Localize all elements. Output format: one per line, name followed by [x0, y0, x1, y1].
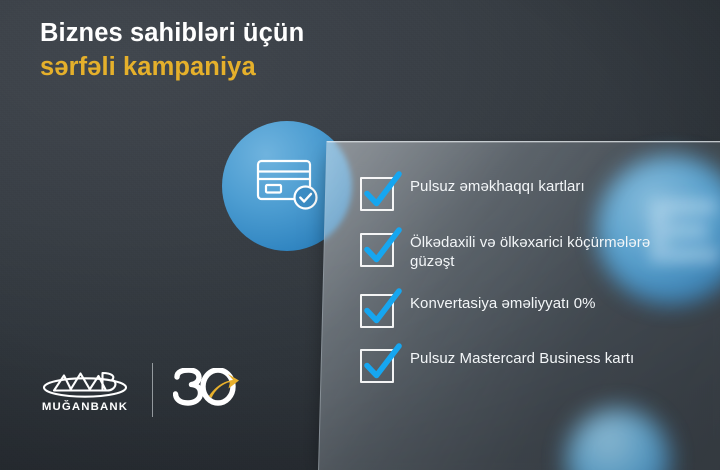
list-item-label: Ölkədaxili və ölkəxarici köçürmələrə güz…	[410, 232, 670, 273]
list-item: Pulsuz əməkhaqqı kartları	[360, 176, 670, 211]
muganbank-logo: MUĞANBANK	[40, 367, 130, 413]
muganbank-wordmark: MUĞANBANK	[40, 402, 130, 413]
promotional-banner: Biznes sahibləri üçün sərfəli kampaniya …	[0, 0, 720, 470]
headline-line-2: sərfəli kampaniya	[40, 52, 304, 82]
credit-card-verified-icon	[256, 158, 320, 212]
anniversary-30-icon	[173, 368, 239, 412]
checkbox-checked-icon	[360, 233, 394, 267]
checkbox-checked-icon	[360, 177, 394, 211]
headline-line-1: Biznes sahibləri üçün	[40, 18, 304, 48]
checkbox-checked-icon	[360, 294, 394, 328]
footer-logo-lockup: MUĞANBANK	[40, 363, 239, 417]
logo-divider	[152, 363, 153, 417]
list-item-label: Pulsuz əməkhaqqı kartları	[410, 176, 585, 197]
list-item: Konvertasiya əməliyyatı 0%	[360, 293, 670, 328]
list-item-label: Pulsuz Mastercard Business kartı	[410, 348, 634, 369]
list-item: Pulsuz Mastercard Business kartı	[360, 348, 670, 383]
list-item: Ölkədaxili və ölkəxarici köçürmələrə güz…	[360, 232, 670, 273]
muganbank-mountain-mark-icon	[40, 367, 130, 399]
list-item-label: Konvertasiya əməliyyatı 0%	[410, 293, 596, 314]
headline-block: Biznes sahibləri üçün sərfəli kampaniya	[40, 18, 304, 82]
benefits-checklist: Pulsuz əməkhaqqı kartları Ölkədaxili və …	[360, 176, 670, 383]
checkbox-checked-icon	[360, 349, 394, 383]
